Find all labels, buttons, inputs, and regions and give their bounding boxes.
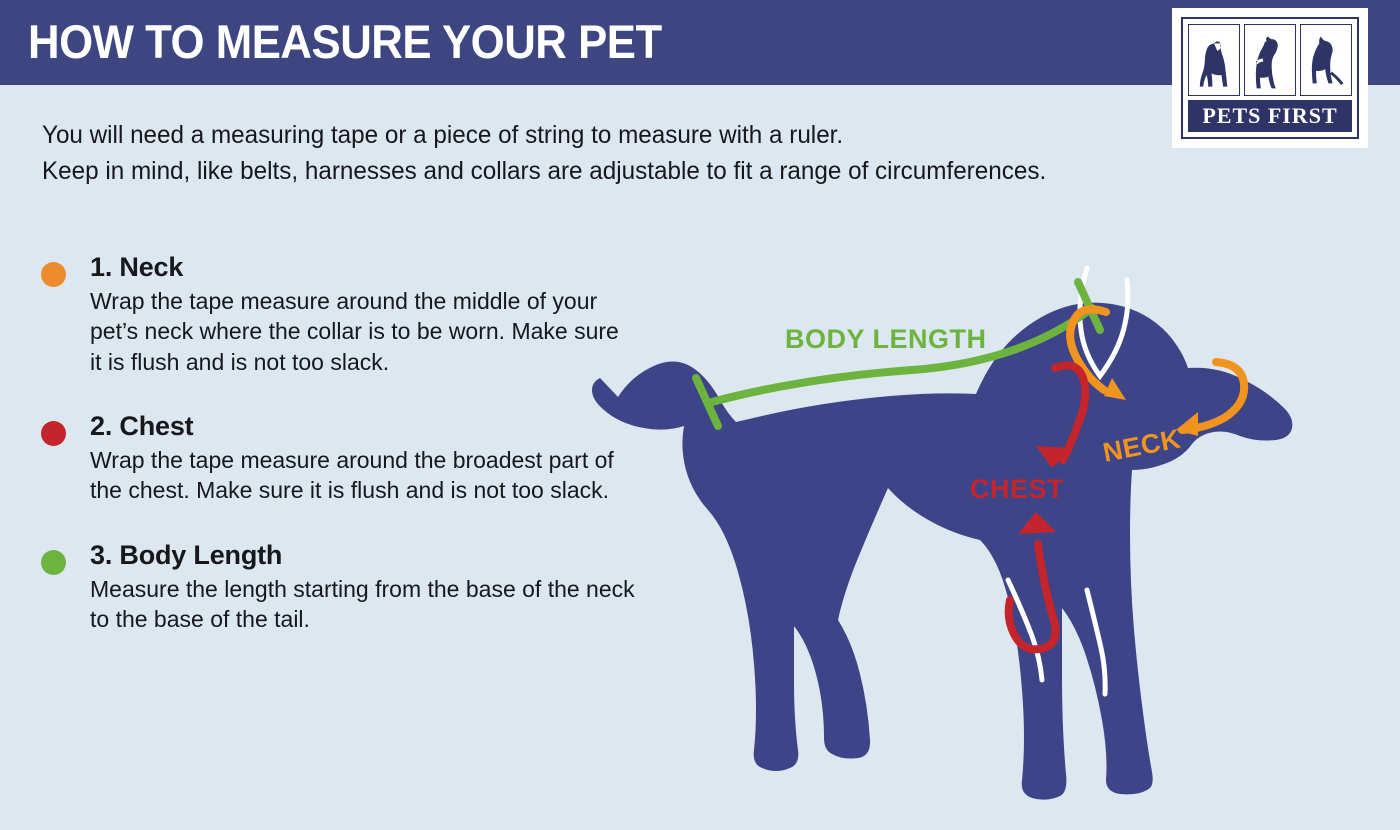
- alert-dog-silhouette-icon: [1300, 24, 1352, 96]
- step-chest: 2. Chest Wrap the tape measure around th…: [38, 411, 638, 506]
- step-bullet-chest: [41, 421, 66, 446]
- logo-frame: PETS FIRST: [1181, 17, 1359, 139]
- dog-measurement-diagram: BODY LENGTH NECK CHEST: [600, 200, 1400, 830]
- logo-panels: [1188, 24, 1352, 96]
- step-heading-chest: 2. Chest: [90, 411, 638, 442]
- measurement-steps-list: 1. Neck Wrap the tape measure around the…: [38, 252, 638, 663]
- infographic-page: HOW TO MEASURE YOUR PET: [0, 0, 1400, 830]
- step-neck: 1. Neck Wrap the tape measure around the…: [38, 252, 638, 377]
- step-body-chest: Wrap the tape measure around the broades…: [90, 445, 635, 506]
- step-body-neck: Wrap the tape measure around the middle …: [90, 286, 635, 377]
- sitting-dog-silhouette-icon: [1188, 24, 1240, 96]
- chest-label: CHEST: [970, 474, 1064, 504]
- step-heading-neck: 1. Neck: [90, 252, 638, 283]
- step-body-body-length: Measure the length starting from the bas…: [90, 574, 635, 635]
- howling-dog-silhouette-icon: [1244, 24, 1296, 96]
- step-body-length: 3. Body Length Measure the length starti…: [38, 540, 638, 635]
- brand-logo: PETS FIRST: [1172, 8, 1368, 148]
- logo-wordmark: PETS FIRST: [1188, 100, 1352, 132]
- body-length-label: BODY LENGTH: [785, 324, 987, 354]
- step-bullet-neck: [41, 262, 66, 287]
- intro-line-2: Keep in mind, like belts, harnesses and …: [42, 154, 1128, 190]
- intro-line-1: You will need a measuring tape or a piec…: [42, 118, 1128, 154]
- step-bullet-body-length: [41, 550, 66, 575]
- page-title: HOW TO MEASURE YOUR PET: [28, 14, 662, 69]
- intro-paragraph: You will need a measuring tape or a piec…: [42, 118, 1162, 189]
- step-heading-body-length: 3. Body Length: [90, 540, 638, 571]
